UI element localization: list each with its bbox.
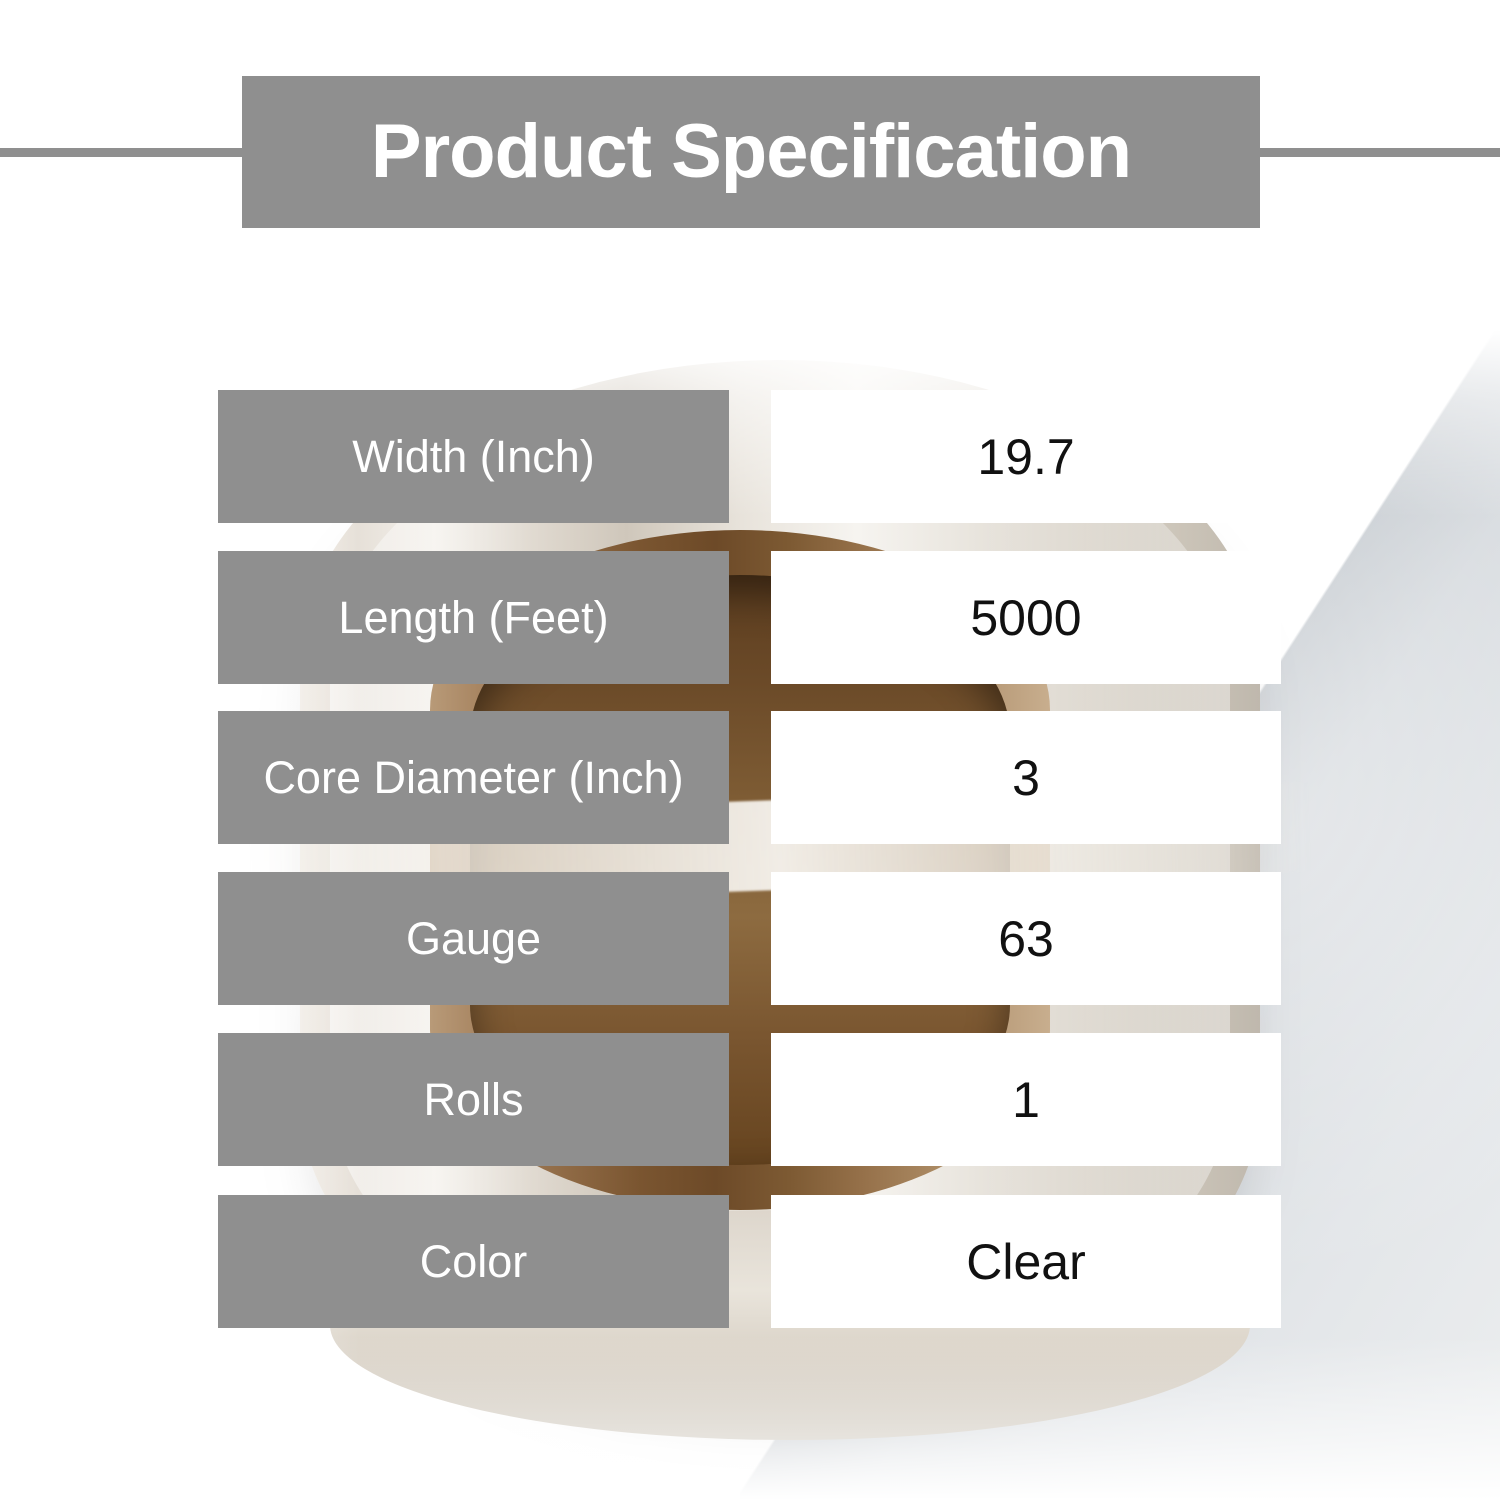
spec-label-core-diameter: Core Diameter (Inch) [218,711,729,844]
spec-table: Width (Inch) 19.7 Length (Feet) 5000 Cor… [0,0,1500,1500]
spec-label-width: Width (Inch) [218,390,729,523]
spec-value-gauge: 63 [771,872,1281,1005]
spec-label-length: Length (Feet) [218,551,729,684]
spec-value-color: Clear [771,1195,1281,1328]
spec-value-rolls: 1 [771,1033,1281,1166]
spec-label-rolls: Rolls [218,1033,729,1166]
spec-label-gauge: Gauge [218,872,729,1005]
spec-value-core-diameter: 3 [771,711,1281,844]
spec-value-width: 19.7 [771,390,1281,523]
product-specification-page: Product Specification Width (Inch) 19.7 … [0,0,1500,1500]
spec-label-color: Color [218,1195,729,1328]
spec-value-length: 5000 [771,551,1281,684]
